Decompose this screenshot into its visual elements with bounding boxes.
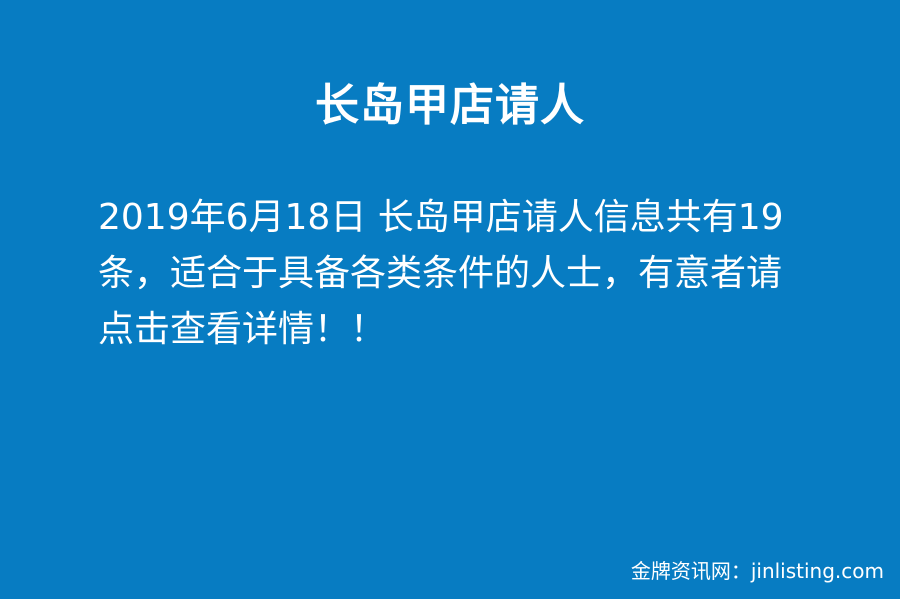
poster-canvas: 长岛甲店请人 2019年6月18日 长岛甲店请人信息共有19条，适合于具备各类条… — [0, 0, 900, 599]
page-title: 长岛甲店请人 — [315, 78, 585, 134]
site-watermark: 金牌资讯网：jinlisting.com — [631, 557, 884, 585]
body-block: 2019年6月18日 长岛甲店请人信息共有19条，适合于具备各类条件的人士，有意… — [98, 190, 804, 358]
body-paragraph: 2019年6月18日 长岛甲店请人信息共有19条，适合于具备各类条件的人士，有意… — [98, 190, 804, 358]
title-block: 长岛甲店请人 — [0, 78, 900, 134]
footer-block: 金牌资讯网：jinlisting.com — [0, 557, 900, 585]
